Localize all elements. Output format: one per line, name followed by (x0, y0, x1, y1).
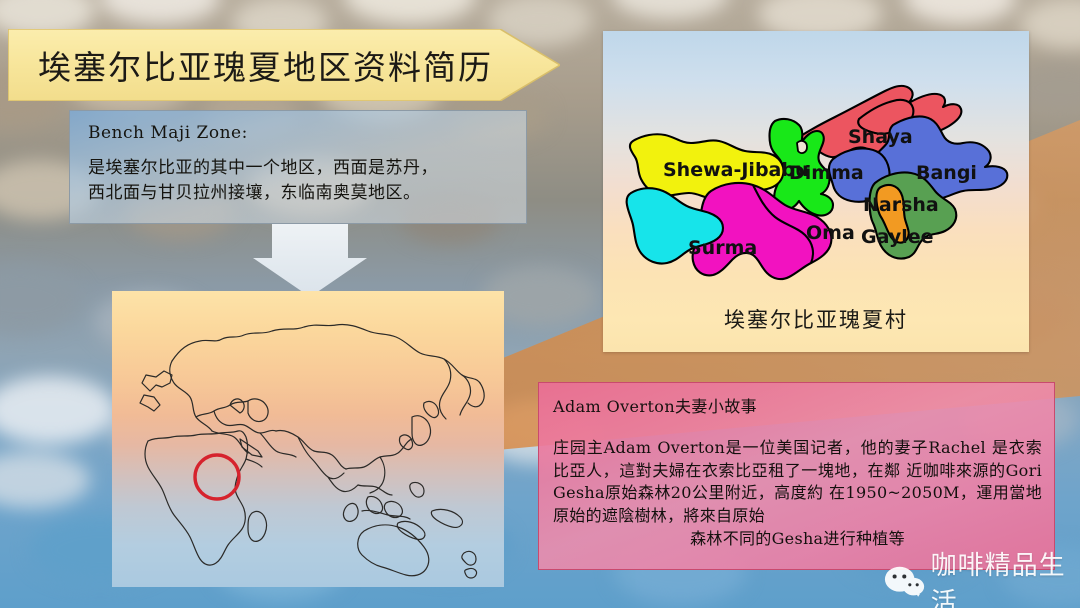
bench-maji-line-1: 是埃塞尔比亚的其中一个地区，西面是苏丹， (88, 156, 510, 181)
wechat-icon (884, 564, 925, 600)
region-label-gaylee: Gaylee (861, 226, 934, 248)
story-line-1: 庄园主Adam Overton是一位美国记者，他的妻子Rachel (553, 438, 986, 457)
bench-maji-info-box: Bench Maji Zone: 是埃塞尔比亚的其中一个地区，西面是苏丹， 西北… (69, 110, 527, 224)
region-label-narsha: Narsha (863, 194, 939, 216)
bench-maji-line-2: 西北面与甘贝拉州接壤，东临南奥莫地区。 (88, 181, 510, 206)
bench-maji-region-map-panel: Shewa-Jibabu Dimma Shaya Bangi Narsha Ga… (603, 31, 1029, 352)
adam-overton-story-box: Adam Overton夫妻小故事 庄园主Adam Overton是一位美国记者… (538, 382, 1055, 570)
region-map-caption: 埃塞尔比亚瑰夏村 (603, 304, 1029, 334)
ethiopia-marker-circle (195, 455, 239, 499)
bench-maji-body: 是埃塞尔比亚的其中一个地区，西面是苏丹， 西北面与甘贝拉州接壤，东临南奥莫地区。 (88, 156, 510, 205)
region-label-bangi: Bangi (916, 162, 977, 184)
story-body: 庄园主Adam Overton是一位美国记者，他的妻子Rachel 是衣索比亞人… (553, 437, 1042, 551)
bench-maji-heading: Bench Maji Zone: (88, 123, 510, 143)
watermark: 咖啡精品生活 (884, 545, 1080, 608)
region-label-shaya: Shaya (848, 126, 913, 148)
story-heading: Adam Overton夫妻小故事 (553, 393, 1042, 417)
region-label-oma: Oma (806, 222, 855, 244)
page-title: 埃塞尔比亚瑰夏地区资料简历 (38, 41, 493, 89)
slide-title-banner: 埃塞尔比亚瑰夏地区资料简历 (8, 29, 560, 101)
world-map-svg (112, 291, 504, 587)
slide-canvas: 埃塞尔比亚瑰夏地区资料简历 Bench Maji Zone: 是埃塞尔比亚的其中… (0, 0, 1080, 608)
region-label-surma: Surma (688, 237, 757, 259)
region-label-dimma: Dimma (789, 162, 864, 184)
watermark-label: 咖啡精品生活 (931, 545, 1080, 608)
world-map-panel (112, 291, 504, 587)
region-shape-inner-notch (797, 141, 807, 153)
region-label-shewa-jibabu: Shewa-Jibabu (663, 159, 809, 181)
